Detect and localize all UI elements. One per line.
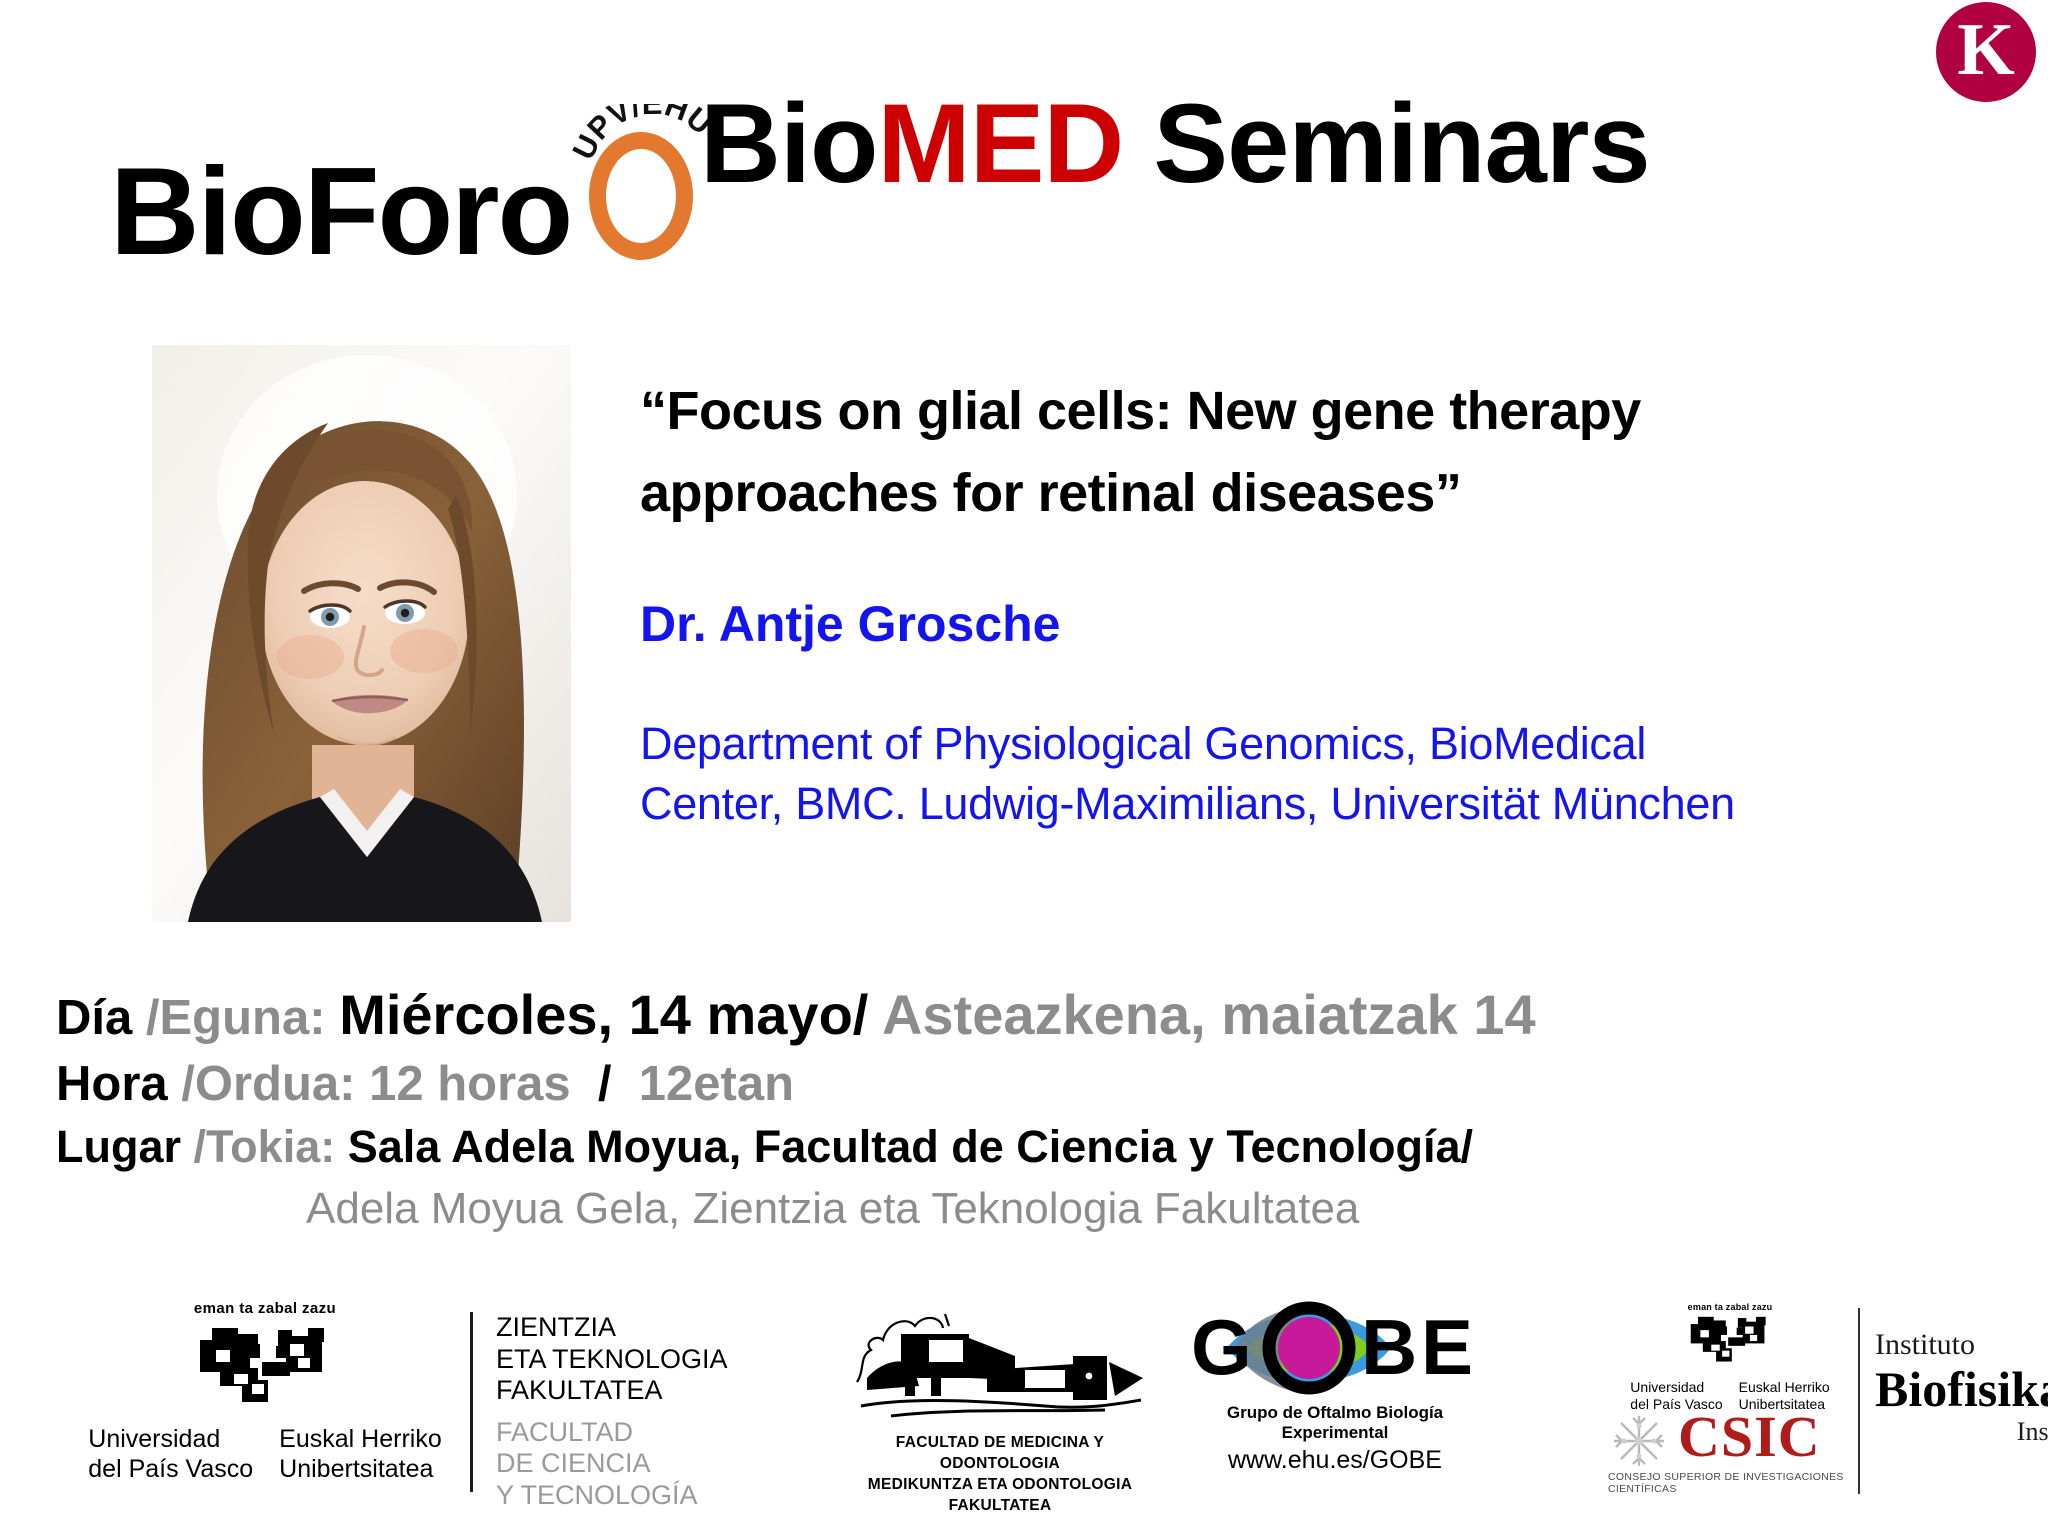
day-label-es: Día <box>56 991 132 1045</box>
csic-expansion: CONSEJO SUPERIOR DE INVESTIGACIONES CIEN… <box>1608 1471 1908 1495</box>
medicine-building-icon <box>845 1300 1145 1428</box>
venue-label-eu: /Tokia: <box>194 1121 336 1172</box>
faculty-name-eu: ZIENTZIA ETA TEKNOLOGIA FAKULTATEA <box>496 1312 800 1407</box>
upvehu-motto: eman ta zabal zazu <box>100 1300 430 1317</box>
seminar-poster: BioForo UPV/EHU BioMED Seminars K <box>0 0 2048 1536</box>
talk-title-line-2: approaches for retinal diseases” <box>640 452 2030 534</box>
logo-gobe: G B E Grupo de Oftalmo Biología Experime… <box>1185 1300 1485 1530</box>
venue-label-es: Lugar <box>56 1121 181 1172</box>
venue-value-eu: Adela Moyua Gela, Zientzia eta Teknologi… <box>306 1184 1956 1234</box>
upvehu-name-es-line2: del País Vasco <box>88 1455 253 1485</box>
bioforo-wordmark: BioForo <box>110 150 571 274</box>
gobe-url[interactable]: www.ehu.es/GOBE <box>1185 1446 1485 1475</box>
svg-text:B: B <box>1361 1303 1417 1391</box>
biofisika-line3: Institutua <box>1875 1417 2048 1447</box>
biofisika-lockup: Instituto Biofisika Institutua <box>1875 1328 2048 1447</box>
k-badge-logo: K <box>1936 2 2036 102</box>
csic-upvehu-motto: eman ta zabal zazu <box>1620 1302 1840 1312</box>
event-details: Día /Eguna: Miércoles, 14 mayo/ Asteazke… <box>56 978 1956 1234</box>
day-label-eu: /Eguna: <box>146 991 326 1045</box>
upvehu-name-eu: Euskal Herriko Unibertsitatea <box>279 1425 442 1484</box>
logo-upv-ehu: eman ta zabal zazu <box>100 1300 430 1530</box>
detail-row-venue: Lugar /Tokia: Sala Adela Moyua, Facultad… <box>56 1117 1956 1176</box>
upvehu-name-eu-line1: Euskal Herriko <box>279 1425 442 1455</box>
bioforo-logo: BioForo UPV/EHU <box>110 78 743 218</box>
portrait-illustration <box>152 345 571 922</box>
poster-header: BioForo UPV/EHU BioMED Seminars K <box>0 0 2048 260</box>
medicine-caption-es: FACULTAD DE MEDICINA Y ODONTOLOGIA <box>845 1433 1155 1475</box>
talk-title-line-1: “Focus on glial cells: New gene therapy <box>640 370 2030 452</box>
k-badge-letter: K <box>1957 13 2015 87</box>
day-value-eu: Asteazkena, maiatzak 14 <box>882 983 1536 1046</box>
csic-snowflake-icon <box>1608 1410 1670 1472</box>
detail-row-day: Día /Eguna: Miércoles, 14 mayo/ Asteazke… <box>56 978 1956 1052</box>
sponsor-logo-row: eman ta zabal zazu <box>0 1300 2048 1536</box>
logo-science-technology-faculty: ZIENTZIA ETA TEKNOLOGIA FAKULTATEA FACUL… <box>470 1300 800 1530</box>
faculty-es-line1: FACULTAD <box>496 1417 800 1449</box>
csic-upvehu-mark-icon <box>1684 1312 1776 1370</box>
faculty-eu-line1: ZIENTZIA <box>496 1312 800 1344</box>
csic-upvehu-es-line1: Universidad <box>1630 1379 1722 1396</box>
time-separator: / <box>598 1057 612 1111</box>
upvehu-mark-icon <box>190 1320 340 1416</box>
gobe-subtitle: Grupo de Oftalmo Biología Experimental <box>1185 1403 1485 1443</box>
logo-csic-biofisika: eman ta zabal zazu <box>1520 1300 2040 1530</box>
time-value-eu: 12etan <box>639 1057 794 1111</box>
biofisika-line1: Instituto <box>1875 1328 2048 1362</box>
gobe-eye-wordmark-icon: G B E <box>1185 1300 1475 1396</box>
csic-upvehu-eu-line1: Euskal Herriko <box>1739 1379 1830 1396</box>
faculty-es-line2: DE CIENCIA <box>496 1448 800 1480</box>
affiliation-line-2: Center, BMC. Ludwig-Maximilians, Univers… <box>640 774 2030 834</box>
title-accent: MED <box>877 81 1123 206</box>
time-label-es: Hora <box>56 1057 168 1111</box>
faculty-es-line3: Y TECNOLOGÍA <box>496 1480 800 1512</box>
time-label-eu: /Ordua: 12 horas <box>181 1057 570 1111</box>
faculty-divider-rule <box>470 1312 473 1492</box>
svg-text:UPV/EHU: UPV/EHU <box>567 104 719 165</box>
faculty-eu-line2: ETA TEKNOLOGIA <box>496 1344 800 1376</box>
title-prefix: Bio <box>700 81 877 206</box>
upvehu-name-es-line1: Universidad <box>88 1425 253 1455</box>
seminar-series-title: BioMED Seminars <box>700 82 1650 205</box>
svg-text:G: G <box>1191 1303 1252 1391</box>
speaker-name: Dr. Antje Grosche <box>640 594 2030 654</box>
affiliation-line-1: Department of Physiological Genomics, Bi… <box>640 714 2030 774</box>
speaker-portrait-photo <box>152 345 571 922</box>
venue-value-es: Sala Adela Moyua, Facultad de Ciencia y … <box>348 1121 1473 1172</box>
upvehu-name-eu-line2: Unibertsitatea <box>279 1455 442 1485</box>
day-value-es: Miércoles, 14 mayo/ <box>339 983 868 1046</box>
speaker-affiliation: Department of Physiological Genomics, Bi… <box>640 714 2030 834</box>
csic-upvehu-lockup: eman ta zabal zazu <box>1620 1302 1840 1413</box>
csic-biofisika-divider <box>1858 1308 1860 1494</box>
medicine-caption-eu: MEDIKUNTZA ETA ODONTOLOGIA FAKULTATEA <box>845 1475 1155 1517</box>
csic-lockup: CSIC CONSEJO SUPERIOR DE INVESTIGACIONES… <box>1608 1408 1908 1495</box>
talk-information: “Focus on glial cells: New gene therapy … <box>640 370 2030 834</box>
csic-wordmark: CSIC <box>1678 1408 1908 1466</box>
faculty-eu-line3: FAKULTATEA <box>496 1375 800 1407</box>
logo-medicine-dentistry-faculty: FACULTAD DE MEDICINA Y ODONTOLOGIA MEDIK… <box>845 1300 1155 1530</box>
detail-row-time: Hora /Ordua: 12 horas / 12etan <box>56 1052 1956 1117</box>
biofisika-line2: Biofisika <box>1875 1362 2048 1417</box>
svg-text:E: E <box>1421 1303 1473 1391</box>
title-suffix: Seminars <box>1123 81 1649 206</box>
faculty-name-es: FACULTAD DE CIENCIA Y TECNOLOGÍA <box>496 1417 800 1512</box>
upvehu-name-es: Universidad del País Vasco <box>88 1425 253 1484</box>
